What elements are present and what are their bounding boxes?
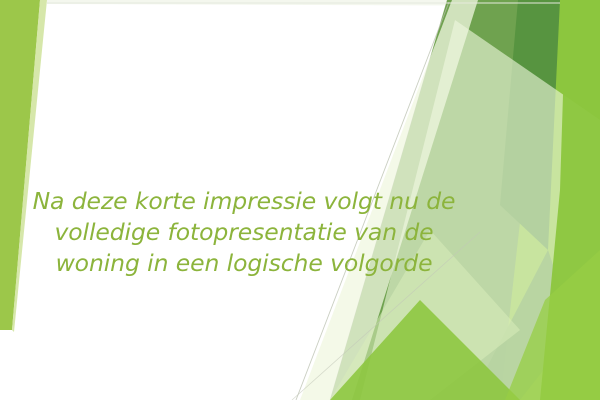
slide-canvas: Na deze korte impressie volgt nu de voll… <box>0 0 600 400</box>
slide-body-text: Na deze korte impressie volgt nu de voll… <box>18 186 470 279</box>
